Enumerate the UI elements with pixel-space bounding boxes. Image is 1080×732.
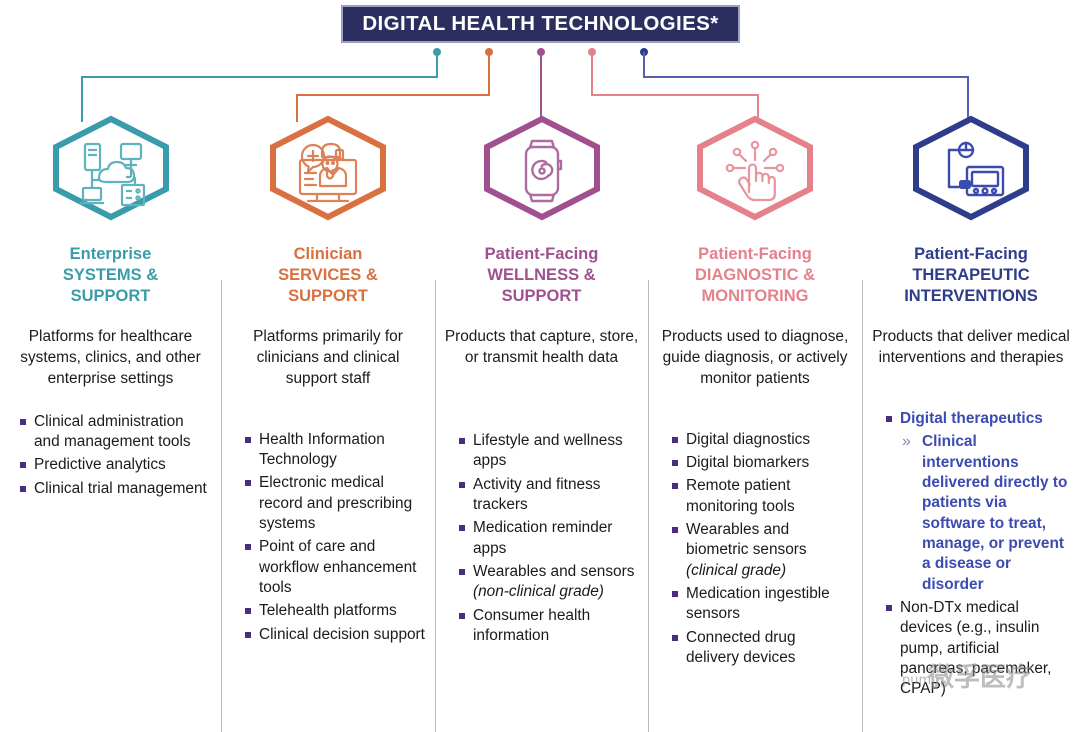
- list-item: Medication reminder apps: [457, 518, 638, 559]
- list-item: Lifestyle and wellness apps: [457, 431, 638, 472]
- list-item: Clinical decision support: [243, 625, 425, 645]
- list-item-text: Wearables and sensors: [473, 563, 634, 580]
- list-item-italic: (clinical grade): [686, 562, 786, 579]
- list-item: Health Information Technology: [243, 430, 425, 471]
- heading-line-3: SUPPORT: [278, 286, 378, 307]
- column-patient-facing-diagnostic-monitoring: Patient-Facing DIAGNOSTIC & MONITORING P…: [648, 110, 862, 732]
- list-item: Wearables and sensors (non-clinical grad…: [457, 562, 638, 603]
- list-item-text: Wearables and biometric sensors: [686, 521, 807, 558]
- description-wellness: Products that capture, store, or transmi…: [443, 327, 640, 369]
- sub-list-item: Clinical interventions delivered directl…: [900, 432, 1070, 595]
- hex-icon-wellness: [478, 114, 606, 222]
- heading-line-2: WELLNESS &: [485, 265, 599, 286]
- heading-line-1: Patient-Facing: [904, 244, 1038, 265]
- heading-line-3: SUPPORT: [485, 286, 599, 307]
- heading-line-2: DIAGNOSTIC &: [695, 265, 815, 286]
- list-item: Non-DTx medical devices (e.g., insulin p…: [884, 598, 1070, 700]
- list-item: Digital biomarkers: [670, 453, 852, 473]
- heading-line-3: MONITORING: [695, 286, 815, 307]
- heading-line-1: Enterprise: [63, 244, 158, 265]
- heading-line-1: Clinician: [278, 244, 378, 265]
- description-enterprise: Platforms for healthcare systems, clinic…: [8, 327, 213, 389]
- column-enterprise-systems-support: Enterprise SYSTEMS & SUPPORT Platforms f…: [0, 110, 221, 732]
- heading-clinician: Clinician SERVICES & SUPPORT: [278, 244, 378, 307]
- heading-line-1: Patient-Facing: [695, 244, 815, 265]
- heading-enterprise: Enterprise SYSTEMS & SUPPORT: [63, 244, 158, 307]
- hex-icon-clinician: [264, 114, 392, 222]
- column-clinician-services-support: Clinician SERVICES & SUPPORT Platforms p…: [221, 110, 435, 732]
- list-item: Point of care and workflow enhancement t…: [243, 537, 425, 598]
- bullet-list-wellness: Lifestyle and wellness apps Activity and…: [443, 431, 640, 649]
- list-item: Telehealth platforms: [243, 601, 425, 621]
- heading-line-3: SUPPORT: [63, 286, 158, 307]
- list-item: Electronic medical record and prescribin…: [243, 473, 425, 534]
- list-item: Consumer health information: [457, 606, 638, 647]
- heading-wellness: Patient-Facing WELLNESS & SUPPORT: [485, 244, 599, 307]
- category-columns: Enterprise SYSTEMS & SUPPORT Platforms f…: [0, 110, 1080, 732]
- heading-therapeutic: Patient-Facing THERAPEUTIC INTERVENTIONS: [904, 244, 1038, 307]
- list-item: Digital therapeutics: [884, 409, 1070, 429]
- bullet-list-therapeutic: Digital therapeutics Clinical interventi…: [870, 409, 1072, 703]
- bullet-list-clinician: Health Information Technology Electronic…: [229, 430, 427, 648]
- list-item: Digital diagnostics: [670, 430, 852, 450]
- list-item: Clinical trial management: [18, 479, 211, 499]
- hex-icon-therapeutic: [907, 114, 1035, 222]
- hex-icon-diagnostic: [691, 114, 819, 222]
- heading-line-1: Patient-Facing: [485, 244, 599, 265]
- description-diagnostic: Products used to diagnose, guide diagnos…: [656, 327, 854, 389]
- heading-line-3: INTERVENTIONS: [904, 286, 1038, 307]
- list-item: Activity and fitness trackers: [457, 475, 638, 516]
- heading-diagnostic: Patient-Facing DIAGNOSTIC & MONITORING: [695, 244, 815, 307]
- heading-line-2: SYSTEMS &: [63, 265, 158, 286]
- bullet-list-enterprise: Clinical administration and management t…: [8, 412, 213, 502]
- column-patient-facing-wellness-support: Patient-Facing WELLNESS & SUPPORT Produc…: [435, 110, 648, 732]
- list-item: Clinical administration and management t…: [18, 412, 211, 453]
- list-item: Remote patient monitoring tools: [670, 476, 852, 517]
- heading-line-2: SERVICES &: [278, 265, 378, 286]
- column-patient-facing-therapeutic-interventions: Patient-Facing THERAPEUTIC INTERVENTIONS…: [862, 110, 1080, 732]
- description-clinician: Platforms primarily for clinicians and c…: [229, 327, 427, 389]
- list-item: Wearables and biometric sensors (clinica…: [670, 520, 852, 581]
- hex-icon-enterprise: [47, 114, 175, 222]
- list-item: Connected drug delivery devices: [670, 628, 852, 669]
- description-therapeutic: Products that deliver medical interventi…: [870, 327, 1072, 369]
- list-item-italic: (non-clinical grade): [473, 583, 604, 600]
- list-item: Predictive analytics: [18, 455, 211, 475]
- list-item: Medication ingestible sensors: [670, 584, 852, 625]
- heading-line-2: THERAPEUTIC: [904, 265, 1038, 286]
- bullet-list-diagnostic: Digital diagnostics Digital biomarkers R…: [656, 430, 854, 672]
